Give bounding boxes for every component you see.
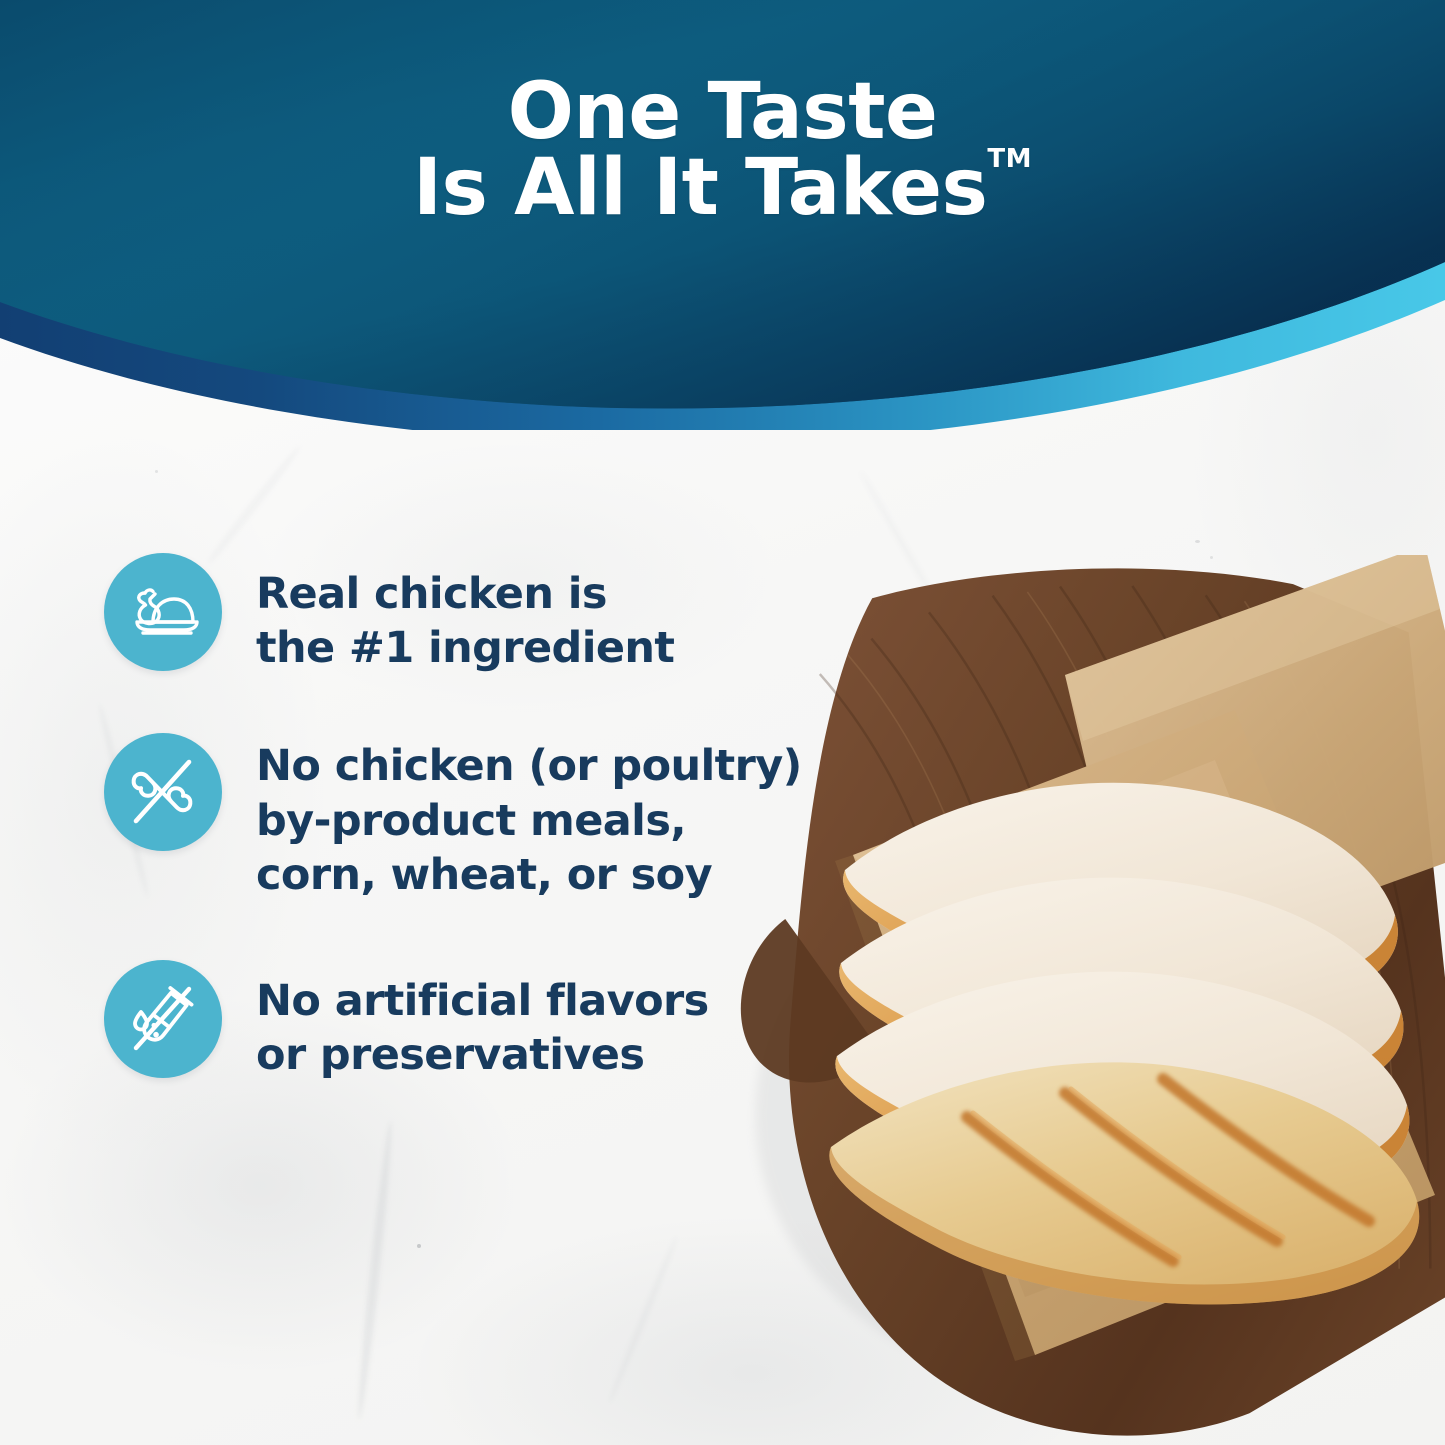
no-bone-icon: [104, 733, 222, 851]
list-item: No artificial flavors or preservatives: [104, 960, 864, 1082]
list-item-label: No chicken (or poultry) by-product meals…: [256, 733, 802, 902]
list-item: Real chicken is the #1 ingredient: [104, 553, 864, 675]
marble-speck: [155, 470, 158, 473]
list-item-label: No artificial flavors or preservatives: [256, 960, 709, 1082]
list-item: No chicken (or poultry) by-product meals…: [104, 733, 864, 902]
header-banner: One Taste Is All It TakesTM: [0, 0, 1445, 430]
page-title: One Taste Is All It TakesTM: [0, 74, 1445, 227]
marble-speck: [417, 1244, 421, 1248]
list-item-label: Real chicken is the #1 ingredient: [256, 553, 674, 675]
marble-speck: [1195, 540, 1200, 543]
headline-line-1: One Taste: [0, 74, 1445, 150]
grilled-chicken-slices: [829, 783, 1419, 1305]
feature-bullet-list: Real chicken is the #1 ingredient No chi…: [104, 553, 864, 1082]
product-feature-graphic: One Taste Is All It TakesTM: [0, 0, 1445, 1445]
headline-line-2: Is All It Takes: [413, 143, 987, 233]
trademark-symbol: TM: [987, 144, 1032, 174]
roast-chicken-platter-icon: [104, 553, 222, 671]
no-test-tube-icon: [104, 960, 222, 1078]
